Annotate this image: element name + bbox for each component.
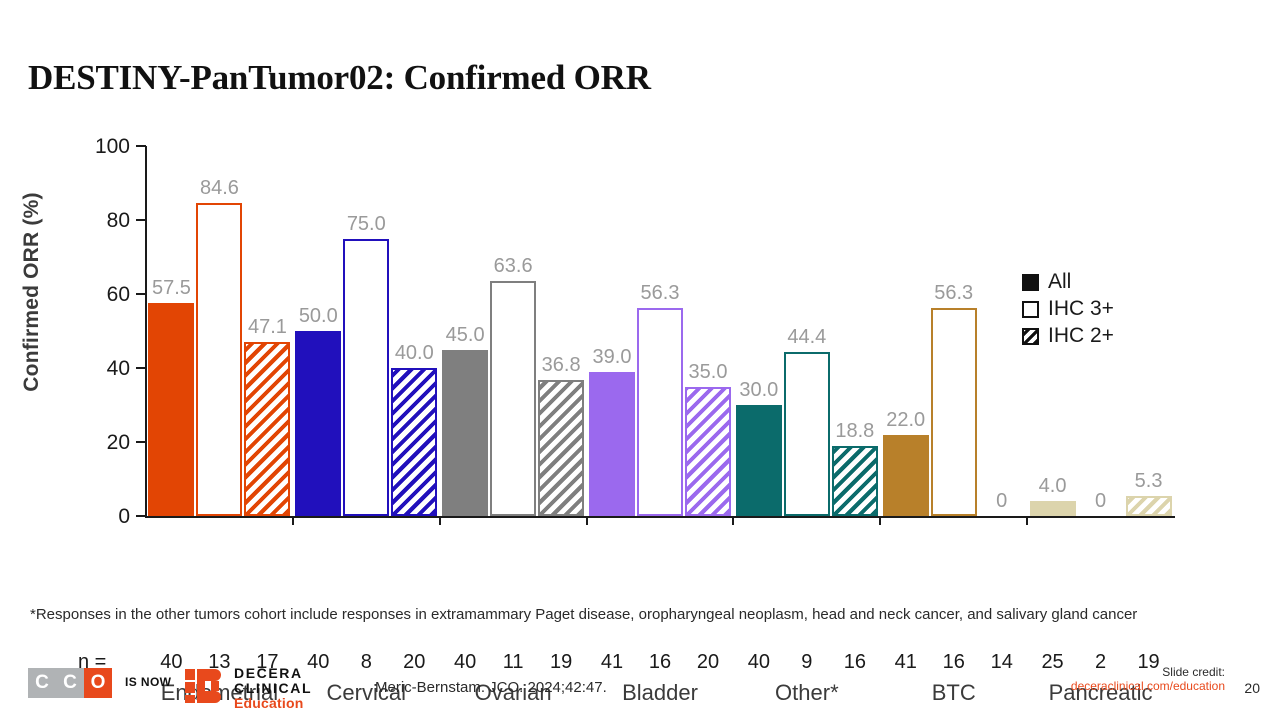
legend-swatch-icon	[1022, 274, 1039, 291]
citation: Meric-Bernstam. JCO. 2024;42:47.	[375, 679, 607, 696]
bar	[832, 446, 878, 516]
slide-footer: C C O IS NOW DECERA CLINICAL Education M…	[0, 660, 1280, 720]
bar-value-label: 0	[1070, 490, 1132, 513]
bar	[637, 308, 683, 516]
bar-value-label: 75.0	[335, 213, 397, 236]
bar-value-label: 57.5	[140, 277, 202, 300]
bar-value-label: 56.3	[629, 282, 691, 305]
slide-credit: Slide credit: deceraclinical.com/educati…	[1071, 665, 1225, 693]
y-axis-tick	[136, 441, 146, 443]
x-axis-group-separator	[586, 516, 588, 525]
x-axis-group-separator	[732, 516, 734, 525]
bar	[538, 380, 584, 516]
y-axis-tick-label: 60	[70, 283, 130, 307]
legend-item-label: IHC 2+	[1048, 324, 1114, 348]
y-axis-tick	[136, 367, 146, 369]
bar	[295, 331, 341, 516]
bar-value-label: 56.3	[923, 282, 985, 305]
decera-line-1: DECERA	[234, 666, 312, 681]
bar-value-label: 39.0	[581, 346, 643, 369]
legend-item[interactable]: IHC 3+	[1022, 296, 1222, 322]
y-axis-tick-label: 20	[70, 431, 130, 455]
y-axis-tick-label: 0	[70, 505, 130, 529]
x-axis-group-separator	[879, 516, 881, 525]
legend-item-label: IHC 3+	[1048, 297, 1114, 321]
bar-value-label: 50.0	[287, 305, 349, 328]
x-axis-group-separator	[292, 516, 294, 525]
bar	[196, 203, 242, 516]
legend-swatch-icon	[1022, 301, 1039, 318]
bar	[589, 372, 635, 516]
bar	[685, 387, 731, 517]
bar-value-label: 44.4	[776, 326, 838, 349]
legend-item-label: All	[1048, 270, 1071, 294]
bar-value-label: 30.0	[728, 379, 790, 402]
y-axis-tick	[136, 515, 146, 517]
y-axis-tick-label: 100	[70, 135, 130, 159]
slide-credit-label: Slide credit:	[1071, 665, 1225, 679]
bar	[442, 350, 488, 517]
footnote: *Responses in the other tumors cohort in…	[30, 605, 1190, 625]
plot-area	[146, 146, 1174, 516]
decera-line-3: Education	[234, 696, 312, 711]
x-axis-group-separator	[1026, 516, 1028, 525]
y-axis-tick	[136, 219, 146, 221]
slide-credit-link[interactable]: deceraclinical.com/education	[1071, 679, 1225, 693]
decera-line-2: CLINICAL	[234, 681, 312, 696]
y-axis-tick	[136, 145, 146, 147]
bar-value-label: 45.0	[434, 324, 496, 347]
bar	[736, 405, 782, 516]
cco-letter-1: C	[28, 668, 56, 698]
bar	[883, 435, 929, 516]
bar	[244, 342, 290, 516]
bar	[931, 308, 977, 516]
bar-value-label: 22.0	[875, 409, 937, 432]
cco-letter-3: O	[84, 668, 112, 698]
page-title: DESTINY-PanTumor02: Confirmed ORR	[28, 58, 651, 98]
y-axis-tick-label: 80	[70, 209, 130, 233]
decera-logo-icon	[185, 668, 225, 704]
chart-legend: AllIHC 3+IHC 2+	[1022, 269, 1222, 350]
page-number: 20	[1244, 680, 1260, 696]
y-axis-tick-label: 40	[70, 357, 130, 381]
bar-value-label: 63.6	[482, 255, 544, 278]
legend-item[interactable]: All	[1022, 269, 1222, 295]
cco-letter-2: C	[56, 668, 84, 698]
bar	[343, 239, 389, 517]
is-now-label: IS NOW	[125, 675, 171, 689]
legend-item[interactable]: IHC 2+	[1022, 323, 1222, 349]
bar	[148, 303, 194, 516]
bar-value-label: 5.3	[1118, 470, 1180, 493]
chart-container: Confirmed ORR (%) 020406080100 n = 40131…	[0, 130, 1280, 570]
bar	[490, 281, 536, 516]
decera-wordmark: DECERA CLINICAL Education	[234, 666, 312, 711]
cco-logo: C C O	[28, 668, 112, 698]
bar	[391, 368, 437, 516]
bar-value-label: 84.6	[188, 177, 250, 200]
x-axis-group-separator	[439, 516, 441, 525]
bar	[1126, 496, 1172, 516]
legend-swatch-icon	[1022, 328, 1039, 345]
y-axis-title: Confirmed ORR (%)	[20, 172, 44, 412]
x-axis-line	[145, 516, 1175, 518]
